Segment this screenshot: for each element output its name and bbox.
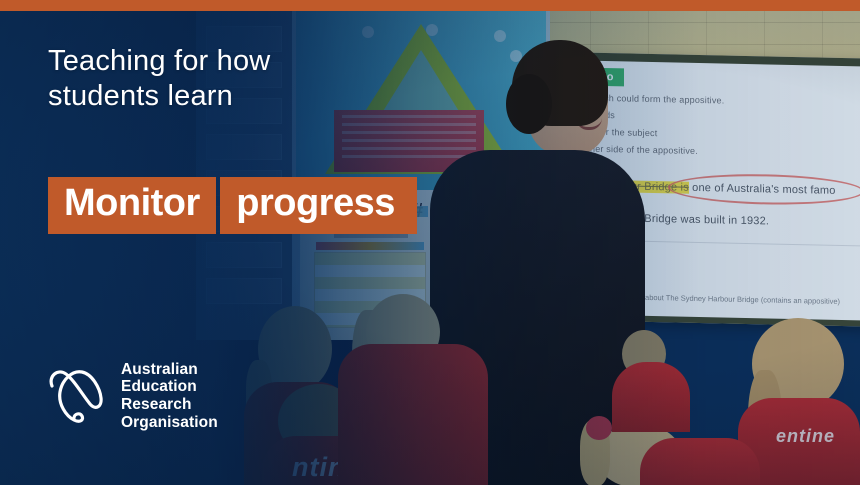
aero-infinity-loop-icon bbox=[46, 360, 108, 432]
cta-callout: Monitor progress bbox=[48, 168, 417, 234]
logo-line-1: Australian bbox=[121, 361, 218, 379]
aero-logo: Australian Education Research Organisati… bbox=[46, 360, 218, 432]
page-title: Teaching for how students learn bbox=[48, 44, 348, 115]
cta-line-1: Monitor bbox=[48, 177, 216, 234]
logo-line-3: Research bbox=[121, 396, 218, 414]
headline-line-1: Teaching for how bbox=[48, 44, 348, 79]
logo-line-2: Education bbox=[121, 378, 218, 396]
top-accent-bar bbox=[0, 0, 860, 11]
promotional-banner: # # e do which could form the appositive… bbox=[0, 0, 860, 485]
cta-line-2: progress bbox=[220, 177, 417, 234]
headline-line-2: students learn bbox=[48, 79, 348, 114]
logo-wordmark: Australian Education Research Organisati… bbox=[121, 361, 218, 432]
logo-line-4: Organisation bbox=[121, 414, 218, 432]
